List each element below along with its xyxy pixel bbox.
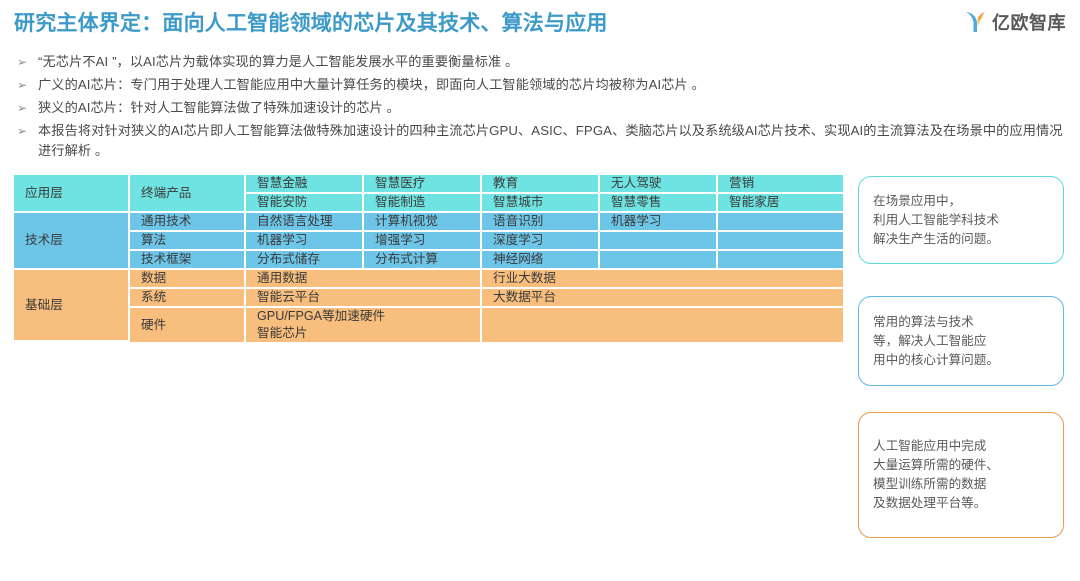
table-row: 应用层 终端产品 智慧金融 智慧医疗 教育 无人驾驶 营销 (14, 175, 843, 194)
matrix-cell: 智慧城市 (482, 194, 600, 213)
matrix-cell: 智能云平台 (246, 289, 482, 308)
matrix-cell: 计算机视觉 (364, 213, 482, 232)
bullet-text: 狭义的AI芯片：针对人工智能算法做了特殊加速设计的芯片 。 (38, 98, 1064, 118)
bullet-item: ➢ 本报告将对针对狭义的AI芯片即人工智能算法做特殊加速设计的四种主流芯片GPU… (14, 121, 1064, 161)
category-cell: 通用技术 (130, 213, 246, 232)
matrix-cell: 分布式计算 (364, 251, 482, 270)
bullet-item: ➢ “无芯片不AI ”，以AI芯片为载体实现的算力是人工智能发展水平的重要衡量标… (14, 52, 1064, 72)
yiou-logo-icon (962, 9, 988, 35)
bullet-text: “无芯片不AI ”，以AI芯片为载体实现的算力是人工智能发展水平的重要衡量标准 … (38, 52, 1064, 72)
matrix-cell: 智能家居 (718, 194, 843, 213)
category-cell: 硬件 (130, 308, 246, 342)
table-row: 基础层 数据 通用数据 行业大数据 (14, 270, 843, 289)
matrix-cell (482, 308, 843, 342)
matrix-cell: 语音识别 (482, 213, 600, 232)
matrix-cell (718, 232, 843, 251)
bullet-arrow-icon: ➢ (14, 98, 38, 118)
matrix-cell: 深度学习 (482, 232, 600, 251)
matrix-cell: 增强学习 (364, 232, 482, 251)
brand-name: 亿欧智库 (992, 9, 1066, 35)
matrix-cell: 智能安防 (246, 194, 364, 213)
matrix-cell: 机器学习 (246, 232, 364, 251)
bullet-item: ➢ 狭义的AI芯片：针对人工智能算法做了特殊加速设计的芯片 。 (14, 98, 1064, 118)
callout-text: 人工智能应用中完成 大量运算所需的硬件、 模型训练所需的数据 及数据处理平台等。 (873, 437, 999, 513)
bullet-item: ➢ 广义的AI芯片：专门用于处理人工智能应用中大量计算任务的模块，即面向人工智能… (14, 75, 1064, 95)
category-cell: 数据 (130, 270, 246, 289)
bullet-text: 本报告将对针对狭义的AI芯片即人工智能算法做特殊加速设计的四种主流芯片GPU、A… (38, 121, 1064, 161)
matrix-cell: 营销 (718, 175, 843, 194)
page-title: 研究主体界定：面向人工智能领域的芯片及其技术、算法与应用 (14, 7, 608, 37)
matrix-cell (600, 251, 718, 270)
layer-label-technology: 技术层 (14, 213, 130, 270)
matrix-cell: 智慧医疗 (364, 175, 482, 194)
definition-bullet-list: ➢ “无芯片不AI ”，以AI芯片为载体实现的算力是人工智能发展水平的重要衡量标… (14, 52, 1064, 164)
category-cell: 算法 (130, 232, 246, 251)
callout-technology-layer: 常用的算法与技术 等，解决人工智能应 用中的核心计算问题。 (858, 296, 1064, 386)
matrix-cell: 智能制造 (364, 194, 482, 213)
category-cell: 技术框架 (130, 251, 246, 270)
table-row: 系统 智能云平台 大数据平台 (14, 289, 843, 308)
category-cell: 系统 (130, 289, 246, 308)
page-header: 研究主体界定：面向人工智能领域的芯片及其技术、算法与应用 亿欧智库 (0, 0, 1080, 46)
matrix-cell: 自然语言处理 (246, 213, 364, 232)
table-row: 算法 机器学习 增强学习 深度学习 (14, 232, 843, 251)
matrix-cell (718, 213, 843, 232)
matrix-cell: 神经网络 (482, 251, 600, 270)
callout-text: 常用的算法与技术 等，解决人工智能应 用中的核心计算问题。 (873, 313, 999, 370)
table-row: 技术框架 分布式储存 分布式计算 神经网络 (14, 251, 843, 270)
callout-foundation-layer: 人工智能应用中完成 大量运算所需的硬件、 模型训练所需的数据 及数据处理平台等。 (858, 412, 1064, 538)
ai-stack-matrix: 应用层 终端产品 智慧金融 智慧医疗 教育 无人驾驶 营销 智能安防 智能制造 … (14, 175, 843, 342)
matrix-cell: GPU/FPGA等加速硬件 智能芯片 (246, 308, 482, 342)
matrix-cell: 大数据平台 (482, 289, 843, 308)
bullet-text: 广义的AI芯片：专门用于处理人工智能应用中大量计算任务的模块，即面向人工智能领域… (38, 75, 1064, 95)
matrix-cell: 行业大数据 (482, 270, 843, 289)
callout-text: 在场景应用中， 利用人工智能学科技术 解决生产生活的问题。 (873, 192, 999, 249)
layer-label-application: 应用层 (14, 175, 130, 213)
brand-logo: 亿欧智库 (962, 9, 1066, 35)
matrix-cell: 智慧金融 (246, 175, 364, 194)
table-row: 技术层 通用技术 自然语言处理 计算机视觉 语音识别 机器学习 (14, 213, 843, 232)
matrix-cell (600, 232, 718, 251)
matrix-cell: 通用数据 (246, 270, 482, 289)
category-cell: 终端产品 (130, 175, 246, 213)
matrix-cell: 机器学习 (600, 213, 718, 232)
bullet-arrow-icon: ➢ (14, 121, 38, 141)
matrix-cell: 分布式储存 (246, 251, 364, 270)
matrix-cell: 无人驾驶 (600, 175, 718, 194)
matrix-cell: 教育 (482, 175, 600, 194)
matrix-cell: 智慧零售 (600, 194, 718, 213)
table-row: 硬件 GPU/FPGA等加速硬件 智能芯片 (14, 308, 843, 342)
layer-label-foundation: 基础层 (14, 270, 130, 342)
callout-application-layer: 在场景应用中， 利用人工智能学科技术 解决生产生活的问题。 (858, 176, 1064, 264)
bullet-arrow-icon: ➢ (14, 52, 38, 72)
matrix-cell (718, 251, 843, 270)
bullet-arrow-icon: ➢ (14, 75, 38, 95)
